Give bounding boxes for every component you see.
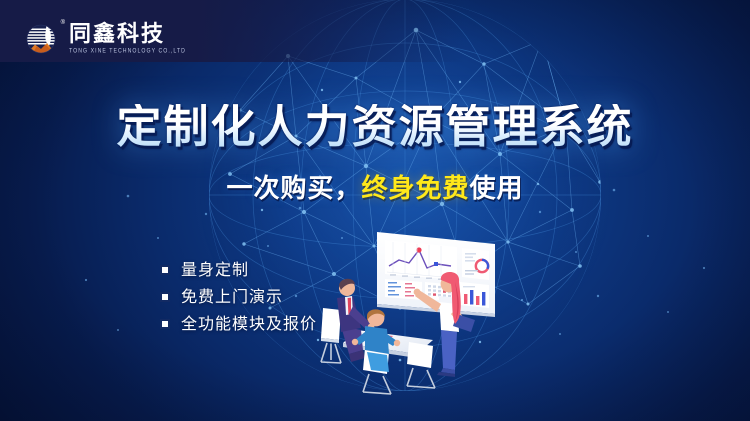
brand-name-cn: 同鑫科技 bbox=[69, 23, 186, 45]
square-bullet-icon bbox=[160, 319, 170, 329]
list-item: 全功能模块及报价 bbox=[160, 316, 317, 332]
feature-list: 量身定制 免费上门演示 全功能模块及报价 bbox=[160, 262, 317, 332]
brand-name-en: TONG XINE TECHNOLOGY CO.,LTD bbox=[69, 49, 186, 55]
square-bullet-icon bbox=[160, 292, 170, 302]
hero-title: 定制化人力资源管理系统 bbox=[0, 104, 750, 149]
subtitle-suffix: 使用 bbox=[470, 174, 524, 204]
brand-logo[interactable]: ® 同鑫科技 TONG XINE TECHNOLOGY CO.,LTD bbox=[24, 16, 186, 60]
feature-label: 免费上门演示 bbox=[181, 289, 283, 305]
subtitle-prefix: 一次购买， bbox=[226, 174, 361, 204]
list-item: 免费上门演示 bbox=[160, 289, 317, 305]
hero-subtitle: 一次购买，终身免费使用 bbox=[0, 176, 750, 202]
subtitle-highlight: 终身免费 bbox=[361, 174, 469, 204]
feature-label: 全功能模块及报价 bbox=[181, 316, 317, 332]
registered-trademark-icon: ® bbox=[61, 20, 65, 26]
list-item: 量身定制 bbox=[160, 262, 317, 278]
feature-label: 量身定制 bbox=[181, 262, 249, 278]
globe-sail-mountain-logo-icon: ® bbox=[24, 20, 60, 56]
business-meeting-dashboard-illustration bbox=[305, 222, 520, 377]
square-bullet-icon bbox=[160, 265, 170, 275]
promo-banner: ® 同鑫科技 TONG XINE TECHNOLOGY CO.,LTD 定制化人… bbox=[0, 0, 750, 421]
